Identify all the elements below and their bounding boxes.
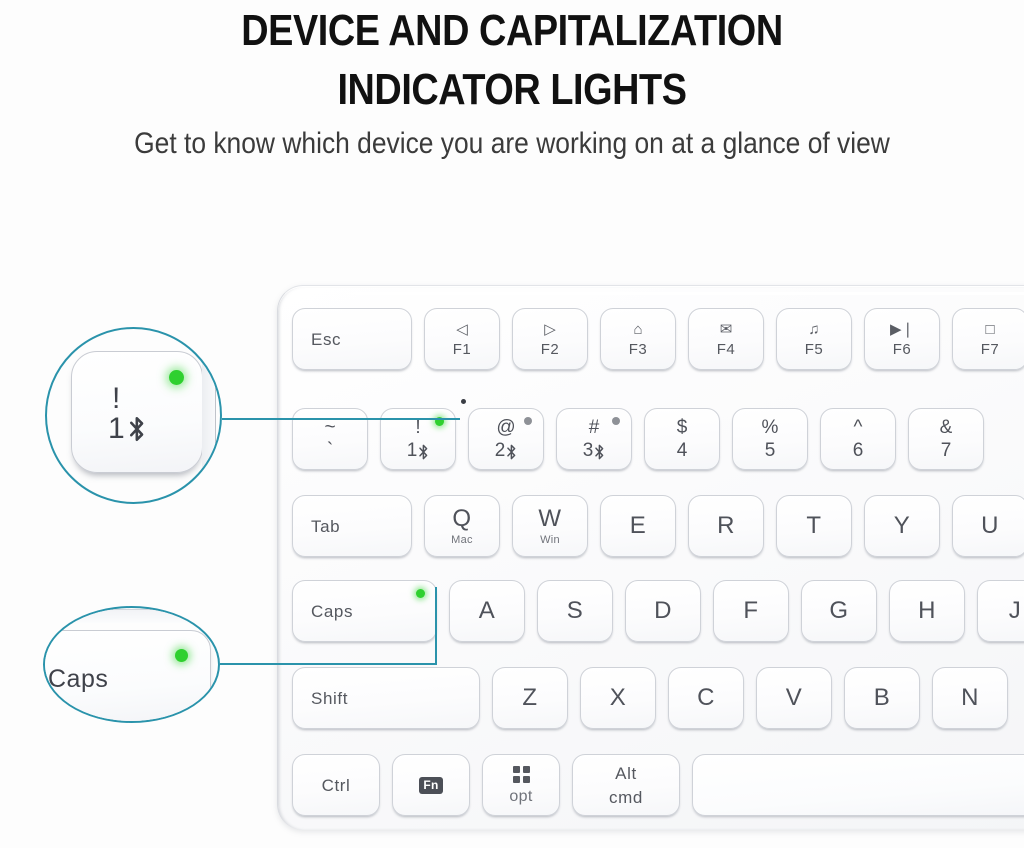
home-icon: ⌂ [633, 322, 642, 337]
keyboard: Esc ◁ F1 ▷ F2 ⌂ F3 ✉ F4 ♫ F5 ▶❘ F6 □ F7 [277, 285, 1024, 830]
key-q-sublabel: Mac [451, 535, 473, 546]
key-f5-label: F5 [805, 342, 824, 357]
key-3-shift-label: # [589, 418, 600, 437]
bluetooth-icon [506, 444, 517, 460]
key-5[interactable]: % 5 [732, 408, 808, 470]
key-r-label: R [717, 514, 735, 538]
key-z[interactable]: Z [492, 667, 568, 729]
key-caps-label: Caps [311, 603, 353, 620]
caps-lock-led [416, 589, 425, 598]
key-2-shift-label: @ [496, 418, 515, 437]
key-4-label: 4 [677, 441, 688, 460]
magnified-key-caps-label: Caps [48, 667, 108, 692]
key-q-label: Q [452, 507, 471, 531]
key-s-label: S [567, 599, 584, 623]
key-1-legend: 1 [407, 441, 430, 460]
key-v[interactable]: V [756, 667, 832, 729]
key-opt-label: opt [509, 789, 532, 805]
header: DEVICE AND CAPITALIZATION INDICATOR LIGH… [0, 0, 1024, 160]
key-y[interactable]: Y [864, 495, 940, 557]
key-7-shift-label: & [940, 418, 953, 437]
key-3[interactable]: # 3 [556, 408, 632, 470]
key-d-label: D [654, 599, 672, 623]
key-f6[interactable]: ▶❘ F6 [864, 308, 940, 370]
key-f4-label: F4 [717, 342, 736, 357]
magnified-bluetooth-led [169, 370, 184, 385]
key-x[interactable]: X [580, 667, 656, 729]
stop-icon: □ [985, 322, 994, 337]
key-g[interactable]: G [801, 580, 877, 642]
key-f2[interactable]: ▷ F2 [512, 308, 588, 370]
key-f6-label: F6 [893, 342, 912, 357]
key-cmd-label: cmd [609, 789, 643, 806]
status-led-body [461, 399, 466, 404]
key-grave-label: ` [327, 441, 333, 460]
key-5-shift-label: % [762, 418, 779, 437]
key-h-label: H [918, 599, 936, 623]
key-a-label: A [479, 599, 496, 623]
key-3-label: 3 [583, 441, 594, 460]
key-f2-label: F2 [541, 342, 560, 357]
magnified-key-caps: Caps [43, 630, 211, 723]
magnified-caps-upper-strip [43, 609, 206, 623]
key-x-label: X [610, 686, 627, 710]
key-f1[interactable]: ◁ F1 [424, 308, 500, 370]
key-3-legend: 3 [583, 441, 606, 460]
keyboard-row-shift: Shift Z X C V B N [292, 667, 1008, 729]
page-subtitle: Get to know which device you are working… [61, 127, 962, 160]
key-grave-shift-label: ~ [324, 418, 335, 437]
key-y-label: Y [894, 514, 911, 538]
key-b-label: B [874, 686, 891, 710]
windows-grid-icon [513, 766, 530, 783]
key-f[interactable]: F [713, 580, 789, 642]
play-previous-icon: ◁ [456, 322, 468, 337]
key-opt[interactable]: opt [482, 754, 560, 816]
music-note-icon: ♫ [808, 322, 819, 337]
keyboard-row-bottom: Ctrl Fn opt Alt cmd ΓΛ [292, 754, 1024, 816]
key-f4[interactable]: ✉ F4 [688, 308, 764, 370]
callout-1-connector-line [222, 418, 460, 420]
key-6-label: 6 [853, 441, 864, 460]
key-4[interactable]: $ 4 [644, 408, 720, 470]
key-ctrl-label: Ctrl [322, 777, 351, 794]
key-tab-label: Tab [311, 518, 340, 535]
play-pause-icon: ▶❘ [890, 322, 914, 337]
key-ctrl[interactable]: Ctrl [292, 754, 380, 816]
mail-icon: ✉ [720, 322, 733, 337]
key-2-label: 2 [495, 441, 506, 460]
key-f-label: F [743, 599, 758, 623]
key-f1-label: F1 [453, 342, 472, 357]
key-7-label: 7 [941, 441, 952, 460]
key-c-label: C [697, 686, 715, 710]
key-c[interactable]: C [668, 667, 744, 729]
magnified-key-1-label: 1 [108, 414, 125, 444]
bluetooth-icon [594, 444, 605, 460]
key-z-label: Z [522, 686, 537, 710]
magnified-key-1-edge [202, 358, 216, 468]
page-title: DEVICE AND CAPITALIZATION INDICATOR LIGH… [72, 2, 953, 119]
callout-2-connector-horizontal [220, 663, 437, 665]
key-tab[interactable]: Tab [292, 495, 412, 557]
key-g-label: G [829, 599, 848, 623]
magnified-key-1: ! 1 [71, 351, 203, 473]
key-w-sublabel: Win [540, 535, 560, 546]
key-4-shift-label: $ [677, 418, 688, 437]
key-b[interactable]: B [844, 667, 920, 729]
key-7[interactable]: & 7 [908, 408, 984, 470]
key-e[interactable]: E [600, 495, 676, 557]
bluetooth-channel-3-led [612, 417, 620, 425]
key-fn[interactable]: Fn [392, 754, 470, 816]
key-esc[interactable]: Esc [292, 308, 412, 370]
play-next-icon: ▷ [544, 322, 556, 337]
key-2-legend: 2 [495, 441, 518, 460]
key-1-shift-label: ! [415, 418, 420, 437]
key-v-label: V [786, 686, 803, 710]
key-alt-label: Alt [615, 765, 637, 782]
magnified-key-1-legend: 1 [108, 414, 146, 444]
key-6[interactable]: ^ 6 [820, 408, 896, 470]
key-shift[interactable]: Shift [292, 667, 480, 729]
key-h[interactable]: H [889, 580, 965, 642]
key-u-label: U [981, 514, 999, 538]
key-6-shift-label: ^ [854, 418, 863, 437]
key-w-label: W [538, 507, 561, 531]
key-n[interactable]: N [932, 667, 1008, 729]
key-s[interactable]: S [537, 580, 613, 642]
key-shift-label: Shift [311, 690, 348, 707]
key-1-label: 1 [407, 441, 418, 460]
key-t-label: T [806, 514, 821, 538]
key-u[interactable]: U [952, 495, 1024, 557]
key-a[interactable]: A [449, 580, 525, 642]
key-f5[interactable]: ♫ F5 [776, 308, 852, 370]
bluetooth-channel-2-led [524, 417, 532, 425]
bluetooth-key-callout: ! 1 [45, 327, 222, 504]
key-t[interactable]: T [776, 495, 852, 557]
bluetooth-icon [418, 444, 429, 460]
keyboard-row-function: Esc ◁ F1 ▷ F2 ⌂ F3 ✉ F4 ♫ F5 ▶❘ F6 □ F7 [292, 308, 1024, 370]
magnified-caps-lock-led [175, 649, 188, 662]
key-n-label: N [961, 686, 979, 710]
keyboard-row-qwerty: Tab Q Mac W Win E R T Y U [292, 495, 1024, 557]
key-5-label: 5 [765, 441, 776, 460]
key-j[interactable]: J [977, 580, 1024, 642]
key-w[interactable]: W Win [512, 495, 588, 557]
key-f7[interactable]: □ F7 [952, 308, 1024, 370]
key-f7-label: F7 [981, 342, 1000, 357]
key-e-label: E [630, 514, 647, 538]
bluetooth-icon [128, 416, 146, 442]
key-q[interactable]: Q Mac [424, 495, 500, 557]
key-2[interactable]: @ 2 [468, 408, 544, 470]
fn-badge-icon: Fn [419, 777, 442, 794]
key-j-label: J [1009, 599, 1022, 623]
callout-2-connector-vertical [435, 587, 437, 665]
keyboard-row-home: Caps A S D F G H J [292, 580, 1024, 642]
key-esc-label: Esc [311, 331, 341, 348]
key-spacebar[interactable]: ΓΛ [692, 754, 1024, 816]
key-r[interactable]: R [688, 495, 764, 557]
key-f3[interactable]: ⌂ F3 [600, 308, 676, 370]
key-f3-label: F3 [629, 342, 648, 357]
key-alt-cmd[interactable]: Alt cmd [572, 754, 680, 816]
key-caps[interactable]: Caps [292, 580, 437, 642]
caps-key-callout: Caps [43, 606, 220, 723]
key-d[interactable]: D [625, 580, 701, 642]
magnified-key-1-shift-label: ! [112, 384, 120, 414]
